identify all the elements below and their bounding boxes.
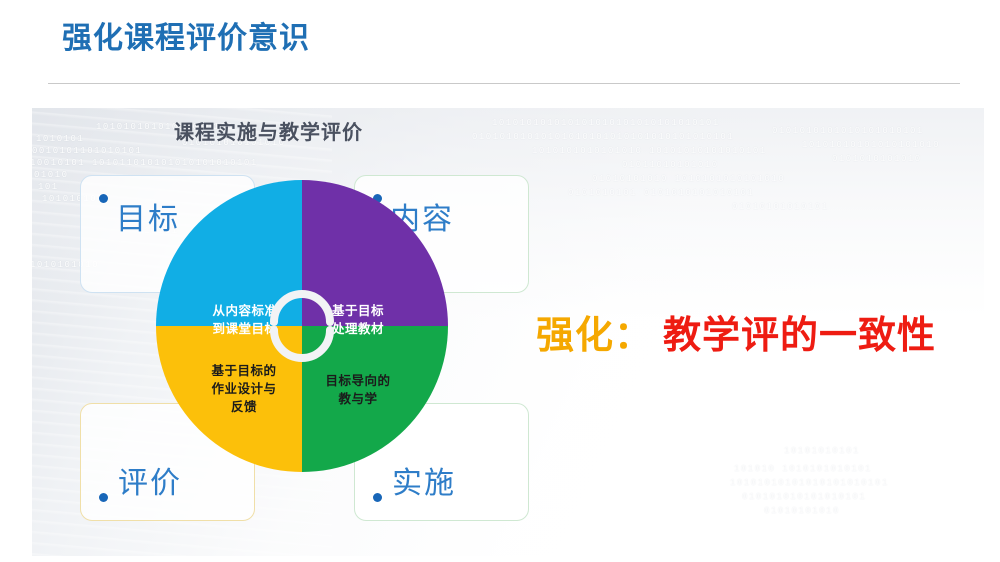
bullet-dot-icon: [373, 493, 382, 502]
wheel-quadrant-content-text: 基于目标 处理教材: [308, 302, 408, 338]
figure-caption: 课程实施与教学评价: [174, 116, 363, 145]
bullet-dot-icon: [99, 194, 108, 203]
title-divider: [48, 83, 960, 84]
wheel-quadrant-implementation-text: 目标导向的 教与学: [308, 372, 408, 408]
page-title: 强化课程评价意识: [62, 22, 310, 55]
binary-digits-texture-right: 101010101010101010101010101010101 010101…: [472, 112, 984, 322]
four-quadrant-wheel: 从内容标准 到课堂目标 基于目标 处理教材 基于目标的 作业设计与 反馈 目标导…: [156, 180, 448, 472]
binary-digits-texture-corner: 10101010101 101010 1010101010101 1010101…: [724, 416, 984, 556]
slogan: 强化：教学评的一致性: [536, 316, 936, 358]
bullet-dot-icon: [99, 493, 108, 502]
slogan-emphasis: 教学评的一致性: [663, 315, 936, 357]
slogan-prefix: 强化：: [536, 315, 653, 357]
wheel-quadrant-goal-text: 从内容标准 到课堂目标: [192, 302, 298, 338]
wheel-quadrant-evaluation-text: 基于目标的 作业设计与 反馈: [190, 362, 298, 416]
